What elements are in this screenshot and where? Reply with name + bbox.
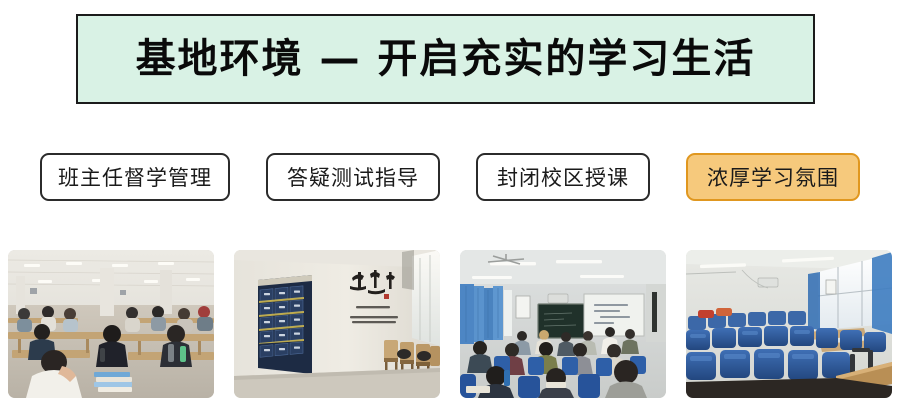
feature-tag-4-label: 浓厚学习氛围: [707, 162, 839, 192]
feature-tag-1[interactable]: 班主任督学管理: [40, 153, 230, 201]
title-banner: 基地环境 — 开启充实的学习生活: [76, 14, 815, 104]
photo-gallery: [8, 250, 892, 398]
classroom-lecture-photo: [460, 250, 666, 398]
page-title: 基地环境 — 开启充实的学习生活: [136, 39, 756, 79]
feature-tag-3[interactable]: 封闭校区授课: [476, 153, 650, 201]
feature-tag-2[interactable]: 答疑测试指导: [266, 153, 440, 201]
feature-tag-2-label: 答疑测试指导: [287, 162, 419, 192]
feature-tag-row: 班主任督学管理 答疑测试指导 封闭校区授课 浓厚学习氛围: [0, 152, 900, 202]
feature-tag-3-label: 封闭校区授课: [497, 162, 629, 192]
promo-page: 基地环境 — 开启充实的学习生活 班主任督学管理 答疑测试指导 封闭校区授课 浓…: [0, 0, 900, 406]
hallway-board-photo: [234, 250, 440, 398]
empty-classroom-photo: [686, 250, 892, 398]
study-hall-photo: [8, 250, 214, 398]
feature-tag-1-label: 班主任督学管理: [58, 162, 212, 192]
feature-tag-4[interactable]: 浓厚学习氛围: [686, 153, 860, 201]
